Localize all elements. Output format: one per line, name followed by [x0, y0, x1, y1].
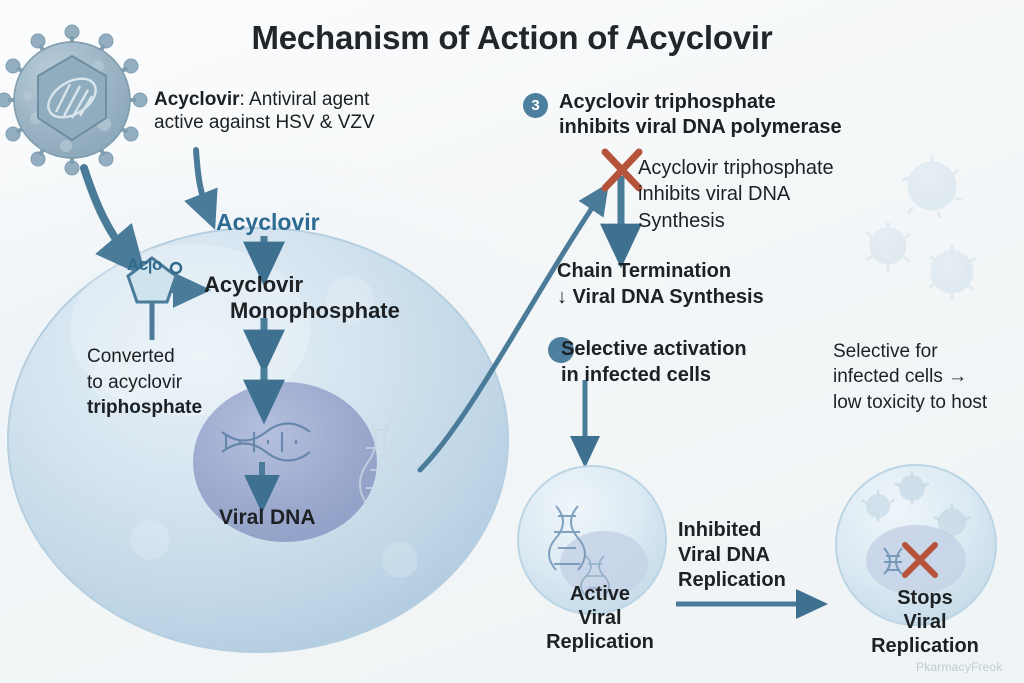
stops-line2: Viral — [840, 610, 1010, 634]
stops-line1: Stops — [840, 586, 1010, 610]
inhibition-x-icon — [605, 152, 639, 188]
step3-line2: inhibits viral DNA polymerase — [559, 115, 959, 140]
nucleus-dna-helix — [222, 424, 310, 461]
label-acyclovir-monophosphate: Acyclovir Monophosphate — [204, 272, 414, 323]
chain-termination-text: Chain Termination ↓ Viral DNA Synthesis — [557, 258, 827, 310]
infographic-canvas: Mechanism of Action of Acyclovir Acyclov… — [0, 0, 1024, 683]
step-3-text: Acyclovir triphosphate inhibits viral DN… — [559, 90, 959, 140]
inhibition-line3: Synthesis — [638, 208, 878, 234]
selright-line3: low toxicity to host — [833, 390, 1024, 415]
intro-rest: : Antiviral agent — [240, 89, 370, 110]
selright-line1: Selective for — [833, 339, 1024, 364]
selright-line2: infected cells → — [833, 364, 1024, 389]
faint-dna-helix — [360, 418, 400, 506]
arrow-cell-to-inhibition — [420, 196, 600, 470]
inhibited-line3: Replication — [678, 568, 808, 593]
label-stops-replication: Stops Viral Replication — [840, 586, 1010, 658]
sugar-label: Ac|o — [127, 255, 162, 276]
selective-line2: in infected cells — [561, 363, 821, 389]
cell-dna-helix — [549, 506, 585, 570]
intro-bold: Acyclovir — [154, 89, 240, 110]
label-converted: Converted to acyclovir triphosphate — [87, 344, 247, 421]
active-line2: Viral — [515, 606, 685, 630]
label-acyclovir: Acyclovir — [216, 208, 320, 236]
blocked-dna-helix — [884, 548, 902, 574]
selective-toxicity-text: Selective for infected cells → low toxic… — [833, 339, 1024, 415]
chain-line1: Chain Termination — [557, 258, 827, 284]
intro-line2: active against HSV & VZV — [154, 111, 454, 134]
converted-line2: to acyclovir — [87, 370, 247, 396]
label-active-replication: Active Viral Replication — [515, 582, 685, 654]
label-viral-dna: Viral DNA — [219, 505, 315, 531]
chain-line2: ↓ Viral DNA Synthesis — [557, 284, 827, 310]
step3-line1: Acyclovir triphosphate — [559, 90, 959, 115]
inhibition-line2: inhibits viral DNA — [638, 181, 878, 207]
inhibition-line1: Acyclovir triphosphate — [638, 155, 878, 181]
blocked-x-icon — [905, 545, 935, 575]
selective-activation-text: Selective activation in infected cells — [561, 337, 821, 388]
inactive-virions — [866, 475, 966, 536]
page-title: Mechanism of Action of Acyclovir — [0, 18, 1024, 58]
active-line1: Active — [515, 582, 685, 606]
amp-line1: Acyclovir — [204, 272, 414, 298]
converted-line3: triphosphate — [87, 395, 247, 421]
active-line3: Replication — [515, 630, 685, 654]
stops-line3: Replication — [840, 634, 1010, 658]
inhibited-line1: Inhibited — [678, 518, 808, 543]
arrow-virus-to-cell — [84, 168, 130, 258]
amp-line2: Monophosphate — [204, 298, 414, 324]
step-3-badge: 3 — [523, 93, 548, 118]
converted-line1: Converted — [87, 344, 247, 370]
inhibition-text: Acyclovir triphosphate inhibits viral DN… — [638, 155, 878, 234]
watermark: PkarmacyFreok — [916, 660, 1003, 675]
inhibited-line2: Viral DNA — [678, 543, 808, 568]
label-inhibited-replication: Inhibited Viral DNA Replication — [678, 518, 808, 592]
ghost-virions — [866, 156, 976, 300]
arrow-intro-to-acyclovir — [196, 150, 208, 212]
intro-text: Acyclovir: Antiviral agent active agains… — [154, 88, 454, 134]
selective-line1: Selective activation — [561, 337, 821, 363]
